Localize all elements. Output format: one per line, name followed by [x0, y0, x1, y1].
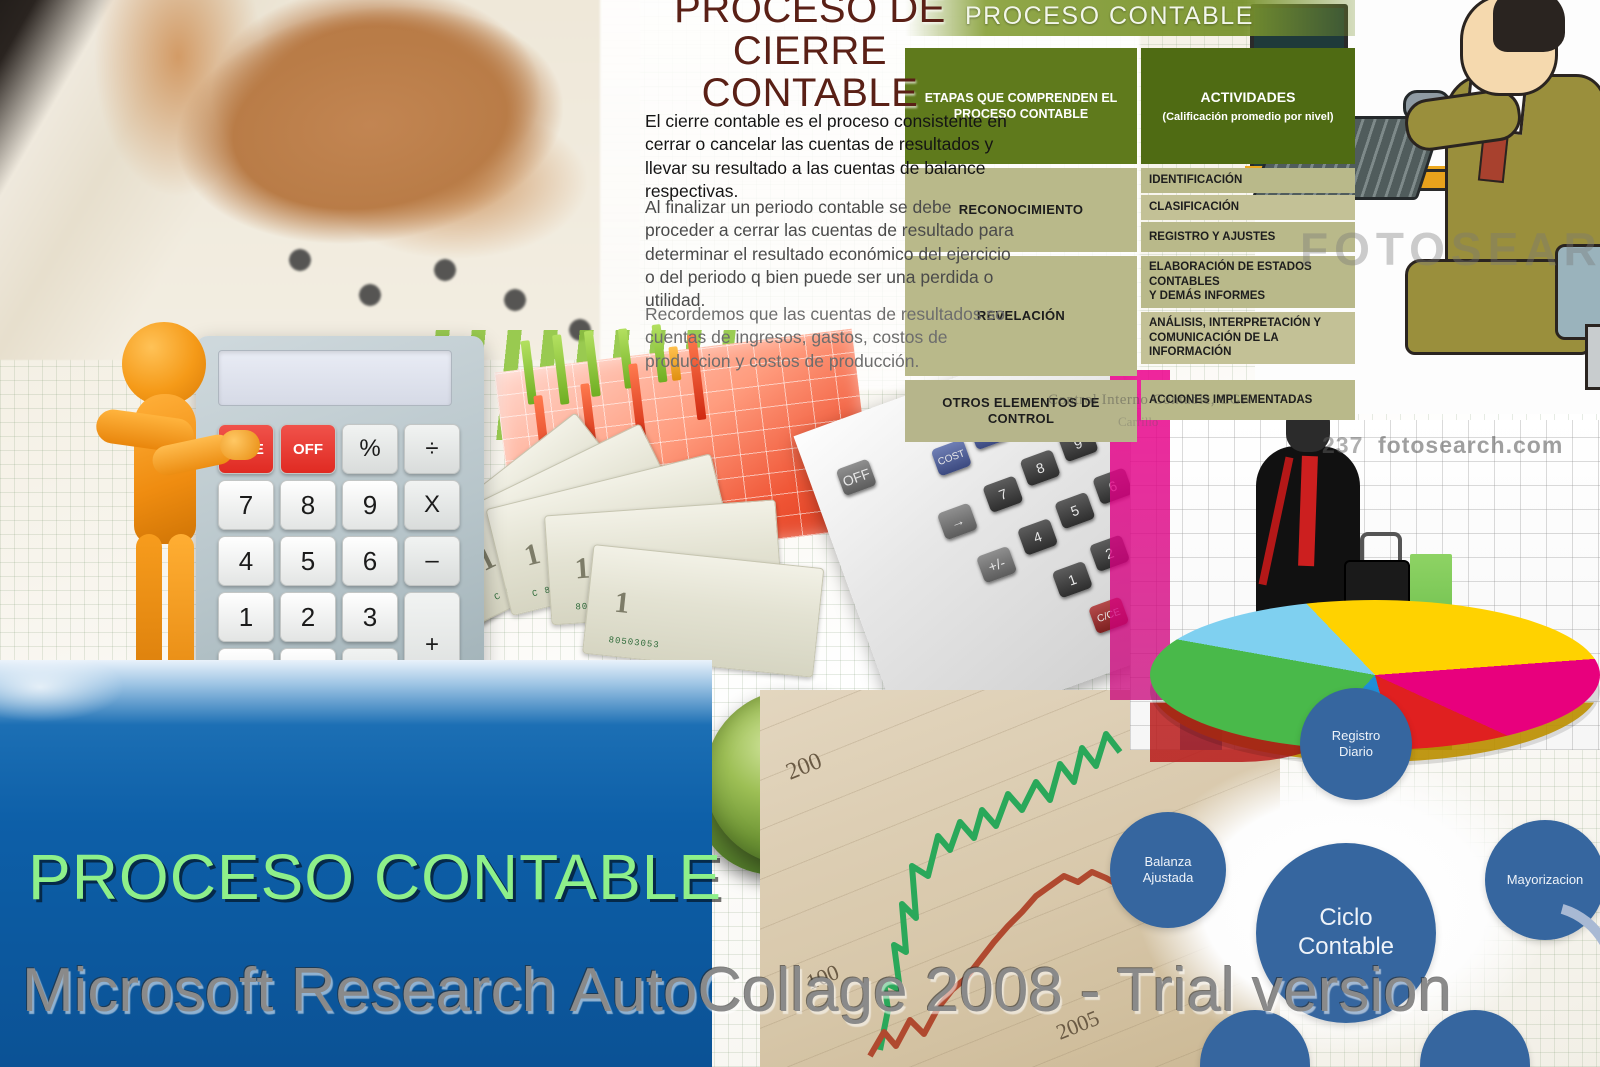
- page-title: PROCESO DE CIERRE CONTABLE: [600, 0, 1020, 114]
- calculator-display: [218, 350, 452, 406]
- chair-pole: [1585, 324, 1600, 390]
- cycle-node-label-line2: Ajustada: [1143, 870, 1194, 886]
- trial-version-watermark: Microsoft Research AutoCollage 2008 - Tr…: [22, 955, 1452, 1026]
- table-header-col2-subtitle: (Calificación promedio por nivel): [1162, 110, 1333, 124]
- calc-key-4[interactable]: 4: [1017, 518, 1059, 556]
- table-cell-otros-elementos: OTROS ELEMENTOS DE CONTROL: [905, 380, 1137, 442]
- table-cell-line1: ELABORACIÓN DE ESTADOS CONTABLES: [1149, 260, 1347, 289]
- table-cell-elaboracion-estados: ELABORACIÓN DE ESTADOS CONTABLES Y DEMÁS…: [1141, 256, 1355, 308]
- control-interno-caption: Control Interno Contable, CGN: [1048, 392, 1252, 409]
- table-cell-registro-ajustes: REGISTRO Y AJUSTES: [1141, 222, 1355, 252]
- table-header-col2: ACTIVIDADES (Calificación promedio por n…: [1141, 48, 1355, 164]
- collage-canvas: 1C 80503050 A 1C 80503050 1C 80503040 18…: [0, 0, 1600, 1067]
- calc-key-arrow[interactable]: →: [937, 502, 979, 540]
- table-cell-line2: CONTROL: [988, 411, 1054, 427]
- calc-key-3[interactable]: 3: [342, 592, 398, 642]
- cycle-node-label-line2: Diario: [1332, 744, 1380, 760]
- calc-key-cost[interactable]: COST: [931, 439, 973, 477]
- calc-key-1[interactable]: 1: [1052, 561, 1094, 599]
- calc-key-9[interactable]: 9: [342, 480, 398, 530]
- calc-key-8[interactable]: 8: [1019, 449, 1061, 487]
- calc-key-plusminus[interactable]: +/-: [976, 546, 1018, 584]
- calc-key-6[interactable]: 6: [342, 536, 398, 586]
- table-cell-line1: ANÁLISIS, INTERPRETACIÓN Y: [1149, 316, 1321, 330]
- page-title-line1: PROCESO DE CIERRE: [600, 0, 1020, 72]
- calc-key-multiply[interactable]: X: [404, 480, 460, 530]
- page-title-line2: CONTABLE: [600, 72, 1020, 114]
- calc-key-off[interactable]: OFF: [836, 458, 878, 496]
- paragraph-1: El cierre contable es el proceso consist…: [645, 110, 1025, 203]
- table-cell-clasificacion: CLASIFICACIÓN: [1141, 195, 1355, 220]
- calc-key-5[interactable]: 5: [280, 536, 336, 586]
- cycle-node-label: Mayorizacion: [1507, 872, 1584, 888]
- table-cell-identificacion: IDENTIFICACIÓN: [1141, 168, 1355, 193]
- table-cell-line2: Y DEMÁS INFORMES: [1149, 289, 1265, 303]
- calc-key-off[interactable]: OFF: [280, 424, 336, 474]
- paragraph-2: Al finalizar un periodo contable se debe…: [645, 196, 1025, 312]
- calculator-keypad: C/CE OFF % ÷ 7 8 9 X 4 5 6 – 1 2 3 + 0 ,…: [218, 424, 464, 698]
- calc-key-divide[interactable]: ÷: [404, 424, 460, 474]
- cycle-node-label-line1: Balanza: [1143, 854, 1194, 870]
- dollar-bill: 180503053: [582, 544, 824, 678]
- calc-key-8[interactable]: 8: [280, 480, 336, 530]
- cycle-node-registro-diario[interactable]: Registro Diario: [1300, 688, 1412, 800]
- calc-key-minus[interactable]: –: [404, 536, 460, 586]
- cycle-center-label-line1: Ciclo: [1298, 904, 1394, 933]
- figure-hand: [220, 430, 260, 460]
- table-header-col2-title: ACTIVIDADES: [1201, 88, 1296, 106]
- table-banner-title: PROCESO CONTABLE: [965, 2, 1355, 32]
- paragraph-3: Recordemos que las cuentas de resultados…: [645, 303, 1025, 373]
- table-cell-line2: COMUNICACIÓN DE LA INFORMACIÓN: [1149, 331, 1347, 360]
- calc-key-2[interactable]: 2: [280, 592, 336, 642]
- calc-key-5[interactable]: 5: [1054, 492, 1096, 530]
- table-cell-analisis-interpretacion: ANÁLISIS, INTERPRETACIÓN Y COMUNICACIÓN …: [1141, 312, 1355, 364]
- cycle-node-balanza-ajustada[interactable]: Balanza Ajustada: [1110, 812, 1226, 928]
- calc-key-percent[interactable]: %: [342, 424, 398, 474]
- bottom-heading: PROCESO CONTABLE: [28, 840, 722, 914]
- news-axis-label-200: 200: [783, 748, 826, 786]
- cycle-node-label-line1: Registro: [1332, 728, 1380, 744]
- control-interno-subcaption: Carrillo: [1118, 414, 1158, 430]
- worker-hair: [1493, 0, 1565, 52]
- calc-key-7[interactable]: 7: [982, 475, 1024, 513]
